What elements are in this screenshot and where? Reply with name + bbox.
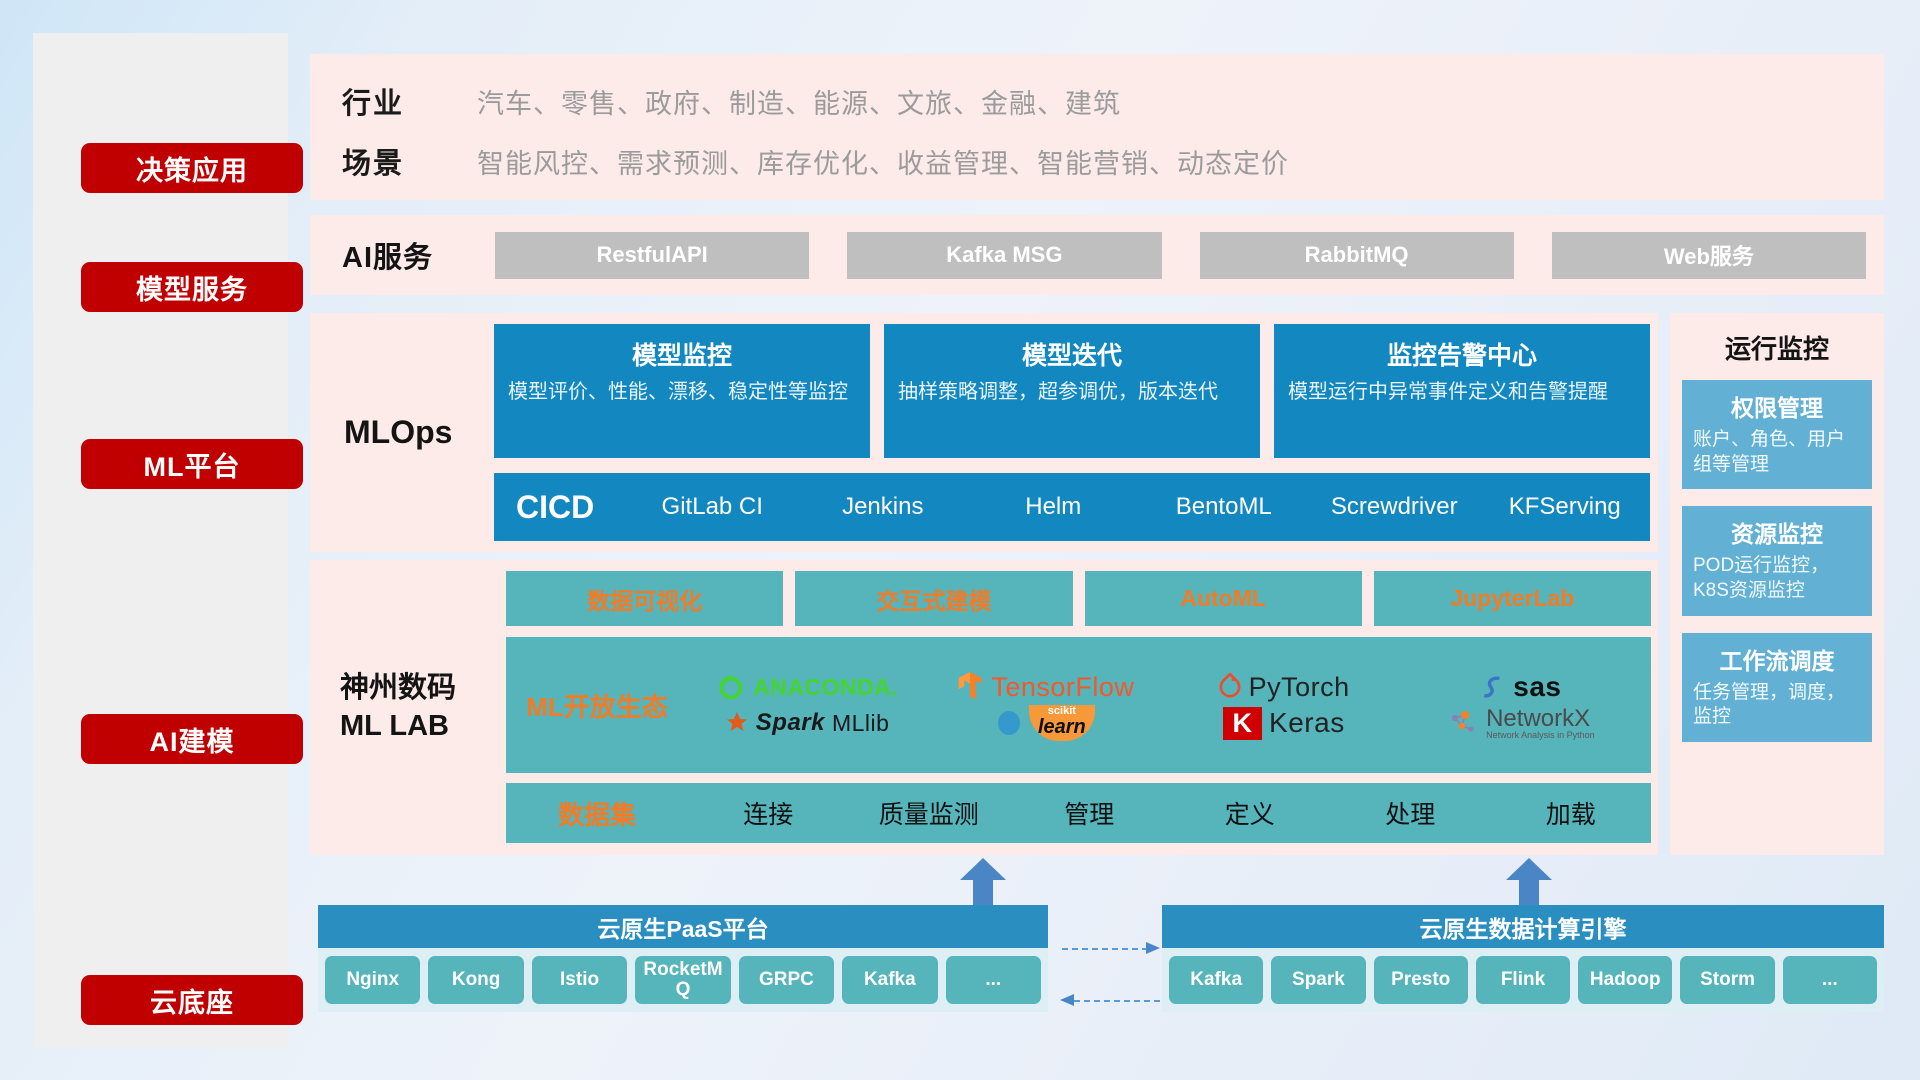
cloud-chip-nginx[interactable]: Nginx [325,956,420,1004]
decision-apps-rows: 行业 汽车、零售、政府、制造、能源、文旅、金融、建筑 场景 智能风控、需求预测、… [310,54,1884,186]
cloud-chip-istio[interactable]: Istio [532,956,627,1004]
card-title: 模型监控 [508,336,856,372]
mlops-card-list: 模型监控 模型评价、性能、漂移、稳定性等监控 模型迭代 抽样策略调整，超参调优，… [494,324,1650,458]
cicd-item-kfserving[interactable]: KFServing [1480,494,1651,519]
cicd-title: CICD [494,489,627,526]
connector-line-back [1074,1000,1160,1002]
networkx-wordmark: NetworkX [1486,706,1595,731]
cloud-chip-grpc[interactable]: GRPC [739,956,834,1004]
data-chip-presto[interactable]: Presto [1374,956,1468,1004]
ai-service-chip-kafka-msg[interactable]: Kafka MSG [847,232,1161,279]
cloud-paas-header: 云原生PaaS平台 [318,905,1048,948]
rail-item-ml-platform[interactable]: ML平台 [81,439,303,489]
runtime-monitoring-title: 运行监控 [1670,313,1884,380]
dataset-title: 数据集 [506,795,688,832]
ml-lab-panel: 神州数码 ML LAB 数据可视化 交互式建模 AutoML JupyterLa… [310,560,1658,855]
rail-label: 决策应用 [136,149,248,188]
data-chip-hadoop[interactable]: Hadoop [1578,956,1672,1004]
left-rail-panel: 决策应用 模型服务 ML平台 AI建模 云底座 [33,33,288,1047]
dataset-item-manage[interactable]: 管理 [1009,795,1170,831]
card-desc: 模型评价、性能、漂移、稳定性等监控 [508,379,856,405]
anaconda-wordmark: ANACONDA. [753,674,898,701]
card-title: 工作流调度 [1693,642,1861,676]
anaconda-logo: ANACONDA. [688,672,926,702]
ml-lab-label-line2: ML LAB [340,708,456,746]
up-arrow-data-engine-icon [1506,858,1552,908]
cloud-paas-chip-list: Nginx Kong Istio RocketMQ GRPC Kafka ... [318,948,1048,1012]
cloud-chip-kong[interactable]: Kong [428,956,523,1004]
ml-lab-tool-list: 数据可视化 交互式建模 AutoML JupyterLab [506,571,1651,626]
industry-value: 汽车、零售、政府、制造、能源、文旅、金融、建筑 [477,82,1121,121]
cloud-chip-more[interactable]: ... [946,956,1041,1004]
dataset-bar: 数据集 连接 质量监测 管理 定义 处理 加载 [506,783,1651,843]
card-title: 资源监控 [1693,515,1861,549]
card-desc: 任务管理，调度，监控 [1693,681,1861,730]
ai-service-chip-restfulapi[interactable]: RestfulAPI [495,232,809,279]
mlops-card-alert-center[interactable]: 监控告警中心 模型运行中异常事件定义和告警提醒 [1274,324,1650,458]
pytorch-flame-icon [1218,673,1242,701]
tool-chip-interactive-modeling[interactable]: 交互式建模 [795,571,1072,626]
dataset-item-quality-monitoring[interactable]: 质量监测 [849,795,1010,831]
scenario-label: 场景 [342,140,477,182]
card-title: 模型迭代 [898,336,1246,372]
rail-item-model-service[interactable]: 模型服务 [81,262,303,312]
monitor-card-permission-management[interactable]: 权限管理 账户、角色、用户组等管理 [1682,380,1872,489]
cicd-item-helm[interactable]: Helm [968,494,1139,519]
sas-wordmark: sas [1513,671,1561,703]
tensorflow-mark-icon [956,671,984,703]
industry-row: 行业 汽车、零售、政府、制造、能源、文旅、金融、建筑 [342,76,1884,126]
rail-item-cloud-foundation[interactable]: 云底座 [81,975,303,1025]
sas-logo: sas [1403,671,1641,703]
networkx-logo: NetworkX Network Analysis in Python [1403,706,1641,741]
main-content: 行业 汽车、零售、政府、制造、能源、文旅、金融、建筑 场景 智能风控、需求预测、… [310,0,1920,1080]
monitor-card-resource-monitoring[interactable]: 资源监控 POD运行监控，K8S资源监控 [1682,506,1872,615]
cicd-item-jenkins[interactable]: Jenkins [798,494,969,519]
cloud-chip-rocketmq[interactable]: RocketMQ [635,956,730,1004]
connector-line-forward [1062,948,1148,950]
ai-service-label: AI服务 [310,234,495,276]
cicd-item-screwdriver[interactable]: Screwdriver [1309,494,1480,519]
tool-chip-jupyterlab[interactable]: JupyterLab [1374,571,1651,626]
keras-wordmark: Keras [1269,707,1345,739]
connector-arrow-left-icon [1058,992,1074,1008]
anaconda-ring-icon [716,672,746,702]
scikit-blob-icon [996,710,1022,736]
tensorflow-wordmark: TensorFlow [991,672,1134,703]
sas-swirl-icon [1482,674,1506,700]
rail-label: 模型服务 [136,268,248,307]
mlops-card-model-iteration[interactable]: 模型迭代 抽样策略调整，超参调优，版本迭代 [884,324,1260,458]
cloud-paas-block: 云原生PaaS平台 Nginx Kong Istio RocketMQ GRPC… [318,905,1048,1012]
learn-wordmark: learn [1038,717,1086,737]
rail-label: 云底座 [150,981,234,1020]
rail-label: AI建模 [150,720,235,759]
industry-label: 行业 [342,80,477,122]
pytorch-logo: PyTorch [1165,672,1403,703]
data-chip-more[interactable]: ... [1783,956,1877,1004]
data-chip-flink[interactable]: Flink [1476,956,1570,1004]
keras-k-badge: K [1223,707,1263,740]
card-desc: POD运行监控，K8S资源监控 [1693,554,1861,603]
ml-lab-label-line1: 神州数码 [340,670,456,708]
scikit-learn-logo: scikit learn [926,705,1164,741]
up-arrow-paas-icon [960,858,1006,908]
dataset-item-connect[interactable]: 连接 [688,795,849,831]
card-title: 监控告警中心 [1288,336,1636,372]
mlops-label: MLOps [344,313,494,552]
ai-service-chip-web-service[interactable]: Web服务 [1552,232,1866,279]
cicd-item-bentoml[interactable]: BentoML [1139,494,1310,519]
ml-ecosystem-logo-grid: ANACONDA. TensorFlow PyTorch [688,669,1651,741]
networkx-graph-icon [1449,709,1479,737]
pytorch-wordmark: PyTorch [1249,672,1350,703]
data-chip-kafka[interactable]: Kafka [1169,956,1263,1004]
spark-mllib-logo: Spark MLlib [688,709,926,737]
decision-apps-panel: 行业 汽车、零售、政府、制造、能源、文旅、金融、建筑 场景 智能风控、需求预测、… [310,54,1884,200]
keras-logo: K Keras [1165,707,1403,740]
cloud-data-engine-header: 云原生数据计算引擎 [1162,905,1884,948]
cloud-data-engine-block: 云原生数据计算引擎 Kafka Spark Presto Flink Hadoo… [1162,905,1884,1012]
scikit-learn-badge: scikit learn [1029,705,1095,741]
connector-arrow-right-icon [1146,940,1162,956]
monitor-card-workflow-scheduling[interactable]: 工作流调度 任务管理，调度，监控 [1682,633,1872,742]
spark-star-icon [725,711,749,735]
mlops-panel: MLOps 模型监控 模型评价、性能、漂移、稳定性等监控 模型迭代 抽样策略调整… [310,313,1658,552]
rail-item-decision-apps[interactable]: 决策应用 [81,143,303,193]
dataset-item-process[interactable]: 处理 [1330,795,1491,831]
data-chip-storm[interactable]: Storm [1680,956,1774,1004]
cloud-chip-kafka[interactable]: Kafka [842,956,937,1004]
ml-ecosystem-band: ML开放生态 ANACONDA. TensorFlow [506,637,1651,773]
tool-chip-automl[interactable]: AutoML [1085,571,1362,626]
cloud-data-engine-chip-list: Kafka Spark Presto Flink Hadoop Storm ..… [1162,948,1884,1012]
scenario-row: 场景 智能风控、需求预测、库存优化、收益管理、智能营销、动态定价 [342,136,1884,186]
dataset-item-load[interactable]: 加载 [1491,795,1652,831]
data-chip-spark[interactable]: Spark [1271,956,1365,1004]
rail-label: ML平台 [144,445,241,484]
tensorflow-logo: TensorFlow [926,671,1164,703]
spark-wordmark: Spark [756,709,825,737]
rail-item-ai-modeling[interactable]: AI建模 [81,714,303,764]
scenario-value: 智能风控、需求预测、库存优化、收益管理、智能营销、动态定价 [477,142,1289,181]
ai-service-panel: AI服务 RestfulAPI Kafka MSG RabbitMQ Web服务 [310,215,1884,295]
networkx-tagline: Network Analysis in Python [1486,731,1595,740]
runtime-monitoring-panel: 运行监控 权限管理 账户、角色、用户组等管理 资源监控 POD运行监控，K8S资… [1670,313,1884,855]
tool-chip-data-visualization[interactable]: 数据可视化 [506,571,783,626]
ml-ecosystem-label: ML开放生态 [506,687,688,724]
networkx-text-block: NetworkX Network Analysis in Python [1486,706,1595,741]
card-desc: 抽样策略调整，超参调优，版本迭代 [898,379,1246,405]
cicd-bar: CICD GitLab CI Jenkins Helm BentoML Scre… [494,473,1650,541]
card-title: 权限管理 [1693,389,1861,423]
ml-lab-label: 神州数码 ML LAB [340,560,510,855]
mlops-card-model-monitoring[interactable]: 模型监控 模型评价、性能、漂移、稳定性等监控 [494,324,870,458]
mllib-wordmark: MLlib [832,710,889,737]
card-desc: 模型运行中异常事件定义和告警提醒 [1288,379,1636,405]
card-desc: 账户、角色、用户组等管理 [1693,428,1861,477]
ai-service-chip-rabbitmq[interactable]: RabbitMQ [1200,232,1514,279]
dataset-item-define[interactable]: 定义 [1170,795,1331,831]
cicd-item-gitlab-ci[interactable]: GitLab CI [627,494,798,519]
